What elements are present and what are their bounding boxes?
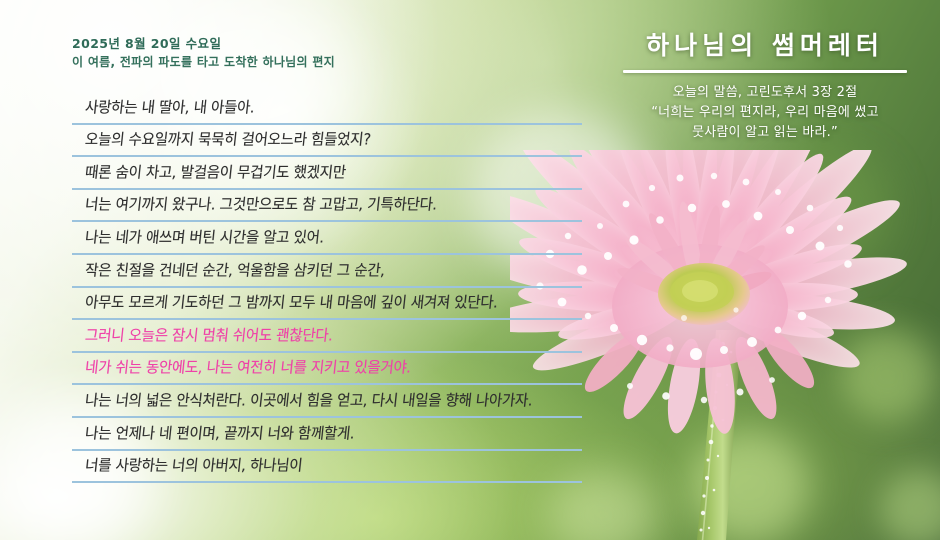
- title-divider: [623, 70, 907, 73]
- letter-line: 나는 언제나 네 편이며, 끝까지 너와 함께할게.: [72, 418, 582, 451]
- letter-line-text: 작은 친절을 건네던 순간, 억울함을 삼키던 그 순간,: [84, 258, 386, 280]
- letter-line-text: 때론 숨이 차고, 발걸음이 무겁기도 했겠지만: [84, 161, 347, 183]
- page-title: 하나님의 썸머레터: [590, 26, 940, 62]
- letter-line: 나는 네가 애쓰며 버틴 시간을 알고 있어.: [72, 222, 582, 255]
- letter-line: 네가 쉬는 동안에도, 나는 여전히 너를 지키고 있을거야.: [72, 353, 582, 386]
- letter-line: 나는 너의 넓은 안식처란다. 이곳에서 힘을 얻고, 다시 내일을 향해 나아…: [72, 385, 582, 418]
- letter-meta: 2025년 8월 20일 수요일 이 여름, 전파의 파도를 타고 도착한 하나…: [72, 34, 335, 72]
- letter-line: 작은 친절을 건네던 순간, 억울함을 삼키던 그 순간,: [72, 255, 582, 288]
- verse-block: 오늘의 말씀, 고린도후서 3장 2절 “너희는 우리의 편지라, 우리 마음에…: [590, 83, 940, 143]
- letter-line-text: 너를 사랑하는 너의 아버지, 하나님이: [84, 454, 303, 476]
- letter-body: 사랑하는 내 딸아, 내 아들아.오늘의 수요일까지 묵묵히 걸어오느라 힘들었…: [72, 92, 582, 483]
- letter-line-text: 그러니 오늘은 잠시 멈춰 쉬어도 괜찮단다.: [84, 323, 334, 345]
- verse-line-2: 뭇사람이 알고 읽는 바라.”: [590, 123, 940, 143]
- letter-line-text: 오늘의 수요일까지 묵묵히 걸어오느라 힘들었지?: [84, 128, 372, 150]
- letter-line: 오늘의 수요일까지 묵묵히 걸어오느라 힘들었지?: [72, 125, 582, 158]
- card-header: 하나님의 썸머레터 오늘의 말씀, 고린도후서 3장 2절 “너희는 우리의 편…: [590, 26, 940, 143]
- letter-line: 사랑하는 내 딸아, 내 아들아.: [72, 92, 582, 125]
- letter-line-text: 아무도 모르게 기도하던 그 밤까지 모두 내 마음에 깊이 새겨져 있단다.: [84, 291, 499, 313]
- letter-line-text: 너는 여기까지 왔구나. 그것만으로도 참 고맙고, 기특하단다.: [84, 193, 438, 215]
- letter-line: 그러니 오늘은 잠시 멈춰 쉬어도 괜찮단다.: [72, 320, 582, 353]
- letter-subtitle: 이 여름, 전파의 파도를 타고 도착한 하나님의 편지: [72, 53, 335, 72]
- letter-line-text: 사랑하는 내 딸아, 내 아들아.: [84, 95, 256, 117]
- verse-line-1: “너희는 우리의 편지라, 우리 마음에 썼고: [590, 103, 940, 123]
- verse-reference: 오늘의 말씀, 고린도후서 3장 2절: [590, 83, 940, 103]
- letter-line-text: 나는 언제나 네 편이며, 끝까지 너와 함께할게.: [84, 421, 356, 443]
- letter-line-text: 나는 네가 애쓰며 버틴 시간을 알고 있어.: [84, 226, 325, 248]
- letter-line: 아무도 모르게 기도하던 그 밤까지 모두 내 마음에 깊이 새겨져 있단다.: [72, 288, 582, 321]
- letter-line-text: 나는 너의 넓은 안식처란다. 이곳에서 힘을 얻고, 다시 내일을 향해 나아…: [84, 389, 534, 411]
- letter-rule-line: [72, 481, 582, 483]
- letter-line: 너를 사랑하는 너의 아버지, 하나님이: [72, 451, 582, 484]
- letter-line: 때론 숨이 차고, 발걸음이 무겁기도 했겠지만: [72, 157, 582, 190]
- letter-line-text: 네가 쉬는 동안에도, 나는 여전히 너를 지키고 있을거야.: [84, 356, 412, 378]
- letter-line: 너는 여기까지 왔구나. 그것만으로도 참 고맙고, 기특하단다.: [72, 190, 582, 223]
- letter-date: 2025년 8월 20일 수요일: [72, 34, 335, 53]
- summer-letter-card: 2025년 8월 20일 수요일 이 여름, 전파의 파도를 타고 도착한 하나…: [0, 0, 940, 540]
